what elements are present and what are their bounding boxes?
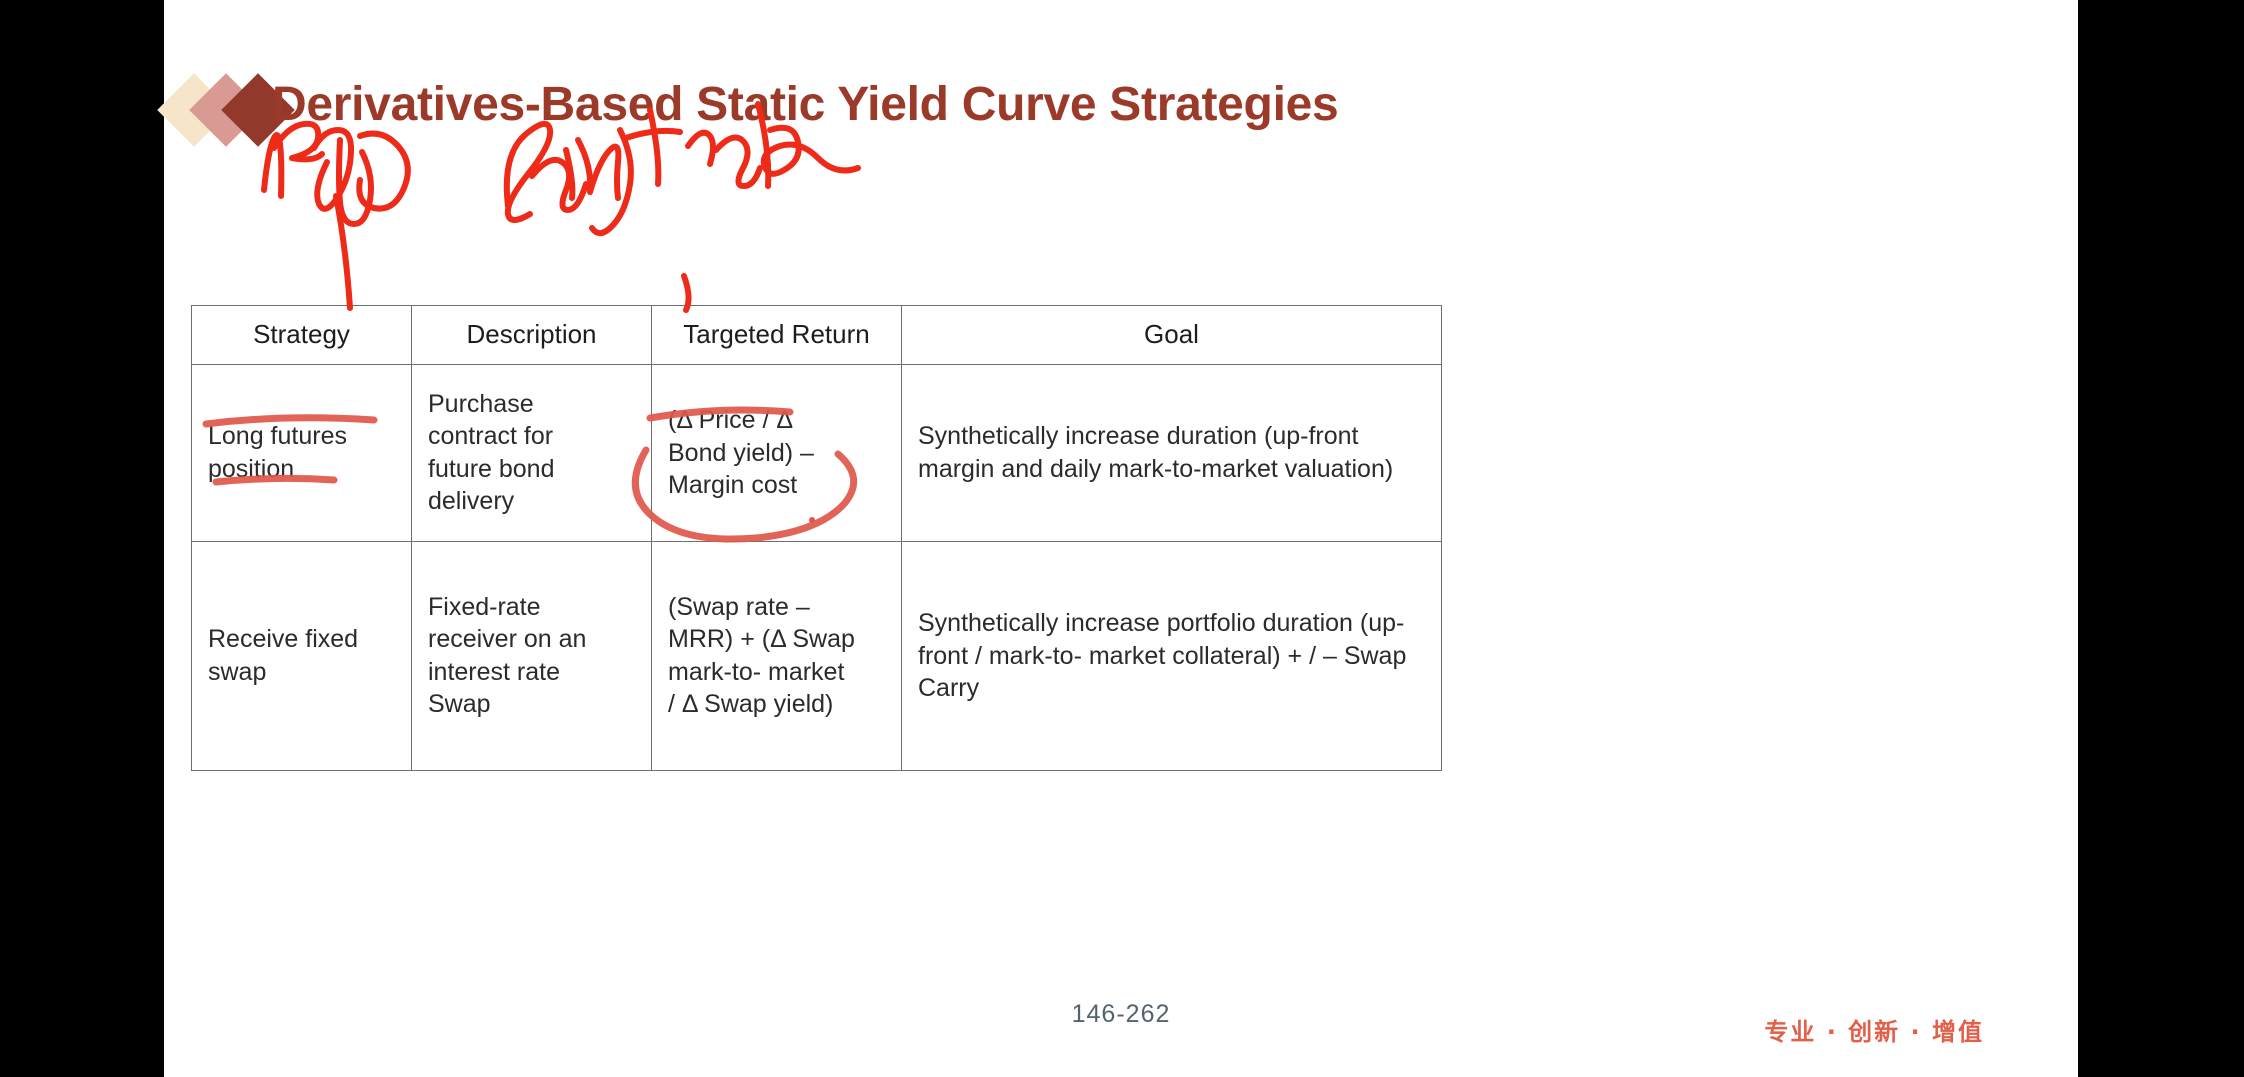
cell-targeted-return: (Swap rate – MRR) + (Δ Swap mark-to- mar… xyxy=(652,541,902,770)
slide-canvas: Derivatives-Based Static Yield Curve Str… xyxy=(164,0,2078,1077)
cell-goal: Synthetically increase duration (up-fron… xyxy=(902,364,1442,541)
letterbox-left xyxy=(0,0,164,1077)
cell-strategy: Receive fixed swap xyxy=(192,541,412,770)
slide-stage: Derivatives-Based Static Yield Curve Str… xyxy=(0,0,2244,1077)
table-header-row: Strategy Description Targeted Return Goa… xyxy=(192,306,1442,365)
cell-strategy: Long futures position xyxy=(192,364,412,541)
table-row: Long futures position Purchase contract … xyxy=(192,364,1442,541)
cell-description: Purchase contract for future bond delive… xyxy=(412,364,652,541)
column-header-targeted-return: Targeted Return xyxy=(652,306,902,365)
cell-targeted-return: (Δ Price / Δ Bond yield) – Margin cost xyxy=(652,364,902,541)
strategy-table-wrap: Strategy Description Targeted Return Goa… xyxy=(191,305,1441,771)
cell-description: Fixed-rate receiver on an interest rate … xyxy=(412,541,652,770)
table-row: Receive fixed swap Fixed-rate receiver o… xyxy=(192,541,1442,770)
brand-watermark: 专业 · 创新 · 增值 xyxy=(1564,1012,1984,1047)
letterbox-right xyxy=(2078,0,2244,1077)
slide-header: Derivatives-Based Static Yield Curve Str… xyxy=(164,62,2078,148)
cell-goal: Synthetically increase portfolio duratio… xyxy=(902,541,1442,770)
column-header-strategy: Strategy xyxy=(192,306,412,365)
arrow-to-strategy xyxy=(336,196,350,308)
page-title: Derivatives-Based Static Yield Curve Str… xyxy=(272,62,2032,148)
column-header-goal: Goal xyxy=(902,306,1442,365)
column-header-description: Description xyxy=(412,306,652,365)
strategy-table: Strategy Description Targeted Return Goa… xyxy=(191,305,1442,771)
